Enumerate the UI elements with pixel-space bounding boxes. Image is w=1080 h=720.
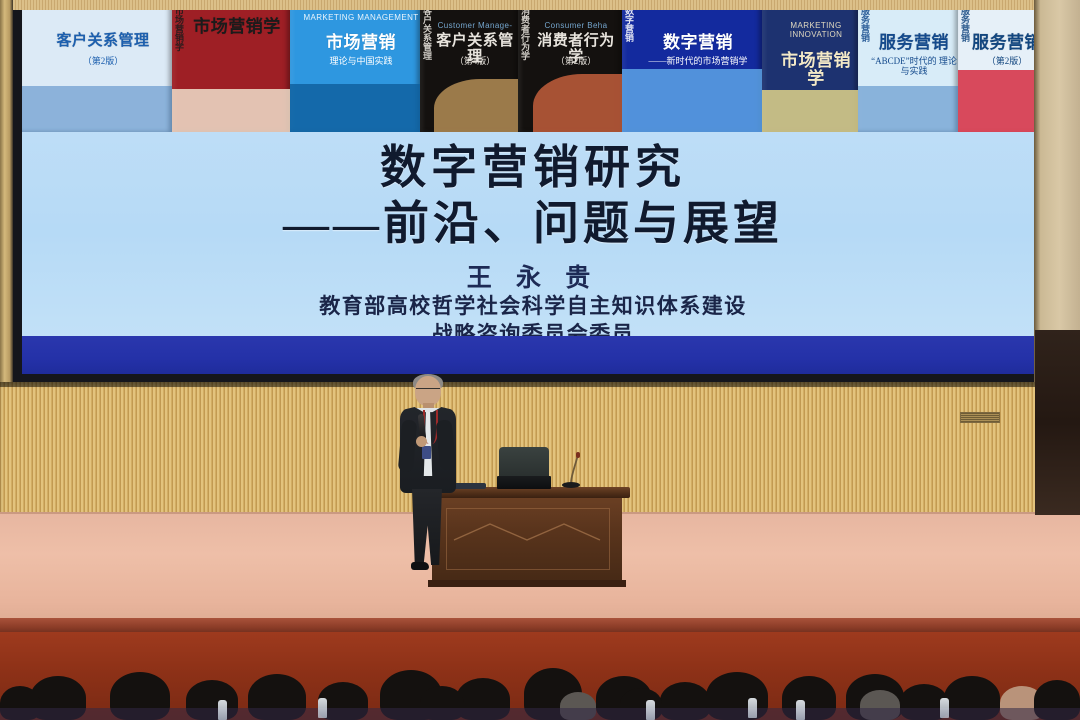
book-english-title: MARKETING INNOVATION xyxy=(762,22,858,40)
slide-affiliation-line1: 教育部高校哲学社会科学自主知识体系建设 xyxy=(22,292,1044,320)
left-wall-edge xyxy=(0,0,13,400)
book-subtitle: （第2版） xyxy=(958,56,1044,66)
book-subtitle: “ABCDE”时代的 理论与实践 xyxy=(858,56,958,77)
book-title: 市场营销学 xyxy=(762,52,858,88)
book-cover-accent xyxy=(533,74,622,132)
book-subtitle: （第4版） xyxy=(420,56,518,66)
book-subtitle: ——新时代的市场营销学 xyxy=(622,56,762,66)
audience-row xyxy=(0,640,1080,720)
book-title: 市场营销 xyxy=(290,34,420,52)
water-bottle xyxy=(748,698,757,718)
book-title: 市场营销学 xyxy=(172,18,290,36)
book-cover-accent xyxy=(22,86,172,132)
ceiling-wood-strip xyxy=(0,0,1080,10)
presenter-badge xyxy=(422,446,431,459)
book-cover-accent xyxy=(762,90,858,132)
presenter-glasses xyxy=(416,388,440,394)
book-cover: 消费者行为学消费者行为学（第2版）Consumer Beha xyxy=(518,0,622,132)
book-cover-accent xyxy=(858,86,958,132)
book-subtitle: （第2版） xyxy=(518,56,622,66)
book-subtitle: 理论与中国实践 xyxy=(290,56,420,66)
slide-title-line2: ——前沿、问题与展望 xyxy=(22,196,1044,252)
water-bottle xyxy=(218,700,227,720)
laptop-on-lectern xyxy=(497,447,551,489)
projection-screen: 客户关系管理（第2版）市场营销学市场营销学市场营销理论与中国实践MARKETIN… xyxy=(22,0,1044,374)
water-bottle xyxy=(940,698,949,718)
presenter-legs xyxy=(410,489,444,565)
book-subtitle: （第2版） xyxy=(22,56,172,66)
book-cover: 客户关系管理（第2版） xyxy=(22,0,172,132)
laptop-lid xyxy=(499,447,549,477)
slide-bottom-band xyxy=(22,336,1044,374)
book-cover-accent xyxy=(622,69,762,132)
slide-title-line1: 数字营销研究 xyxy=(22,140,1044,196)
wall-vent-panel xyxy=(960,412,1000,423)
book-cover: 市场营销学市场营销学 xyxy=(172,0,290,132)
side-doorway xyxy=(1035,330,1080,515)
book-cover: 服务营销服务营销（第2版） xyxy=(958,0,1044,132)
book-title: 数字营销 xyxy=(622,34,762,52)
presenter-hand xyxy=(416,436,427,447)
book-cover-accent xyxy=(290,84,420,132)
book-cover: 市场营销学MARKETING INNOVATION xyxy=(762,0,858,132)
book-english-title: Customer Manage- xyxy=(420,22,518,31)
projection-screen-frame: 客户关系管理（第2版）市场营销学市场营销学市场营销理论与中国实践MARKETIN… xyxy=(8,0,1044,384)
laptop-base xyxy=(497,476,551,489)
book-cover-accent xyxy=(958,70,1044,132)
book-title: 客户关系管理 xyxy=(22,34,172,50)
water-bottle xyxy=(796,700,805,720)
slide-title-block: 数字营销研究 ——前沿、问题与展望 xyxy=(22,140,1044,252)
book-cover-accent xyxy=(172,89,290,132)
presenter-shoe xyxy=(411,562,429,570)
book-english-title: Consumer Beha xyxy=(518,22,622,31)
gooseneck-microphone xyxy=(558,452,586,490)
book-cover-accent xyxy=(434,79,518,132)
book-english-title: MARKETING MANAGEMENT xyxy=(290,14,420,23)
lectern-chevron-inlay xyxy=(452,522,602,542)
book-cover: 数字营销数字营销——新时代的市场营销学 xyxy=(622,0,762,132)
lecture-hall-scene: 客户关系管理（第2版）市场营销学市场营销学市场营销理论与中国实践MARKETIN… xyxy=(0,0,1080,720)
water-bottle xyxy=(318,698,327,718)
book-cover: 客户关系管理客户关系管理（第4版）Customer Manage- xyxy=(420,0,518,132)
audience-front-desk xyxy=(0,708,1080,720)
lectern-base xyxy=(428,580,626,587)
book-cover-banner: 客户关系管理（第2版）市场营销学市场营销学市场营销理论与中国实践MARKETIN… xyxy=(22,0,1044,132)
book-title: 服务营销 xyxy=(858,34,958,52)
book-cover: 服务营销服务营销“ABCDE”时代的 理论与实践 xyxy=(858,0,958,132)
presenter xyxy=(398,376,458,570)
lectern-body xyxy=(432,498,622,580)
book-cover: 市场营销理论与中国实践MARKETING MANAGEMENT xyxy=(290,0,420,132)
book-title: 服务营销 xyxy=(958,34,1044,52)
slide-speaker-name: 王 永 贵 xyxy=(22,258,1044,294)
water-bottle xyxy=(646,700,655,720)
